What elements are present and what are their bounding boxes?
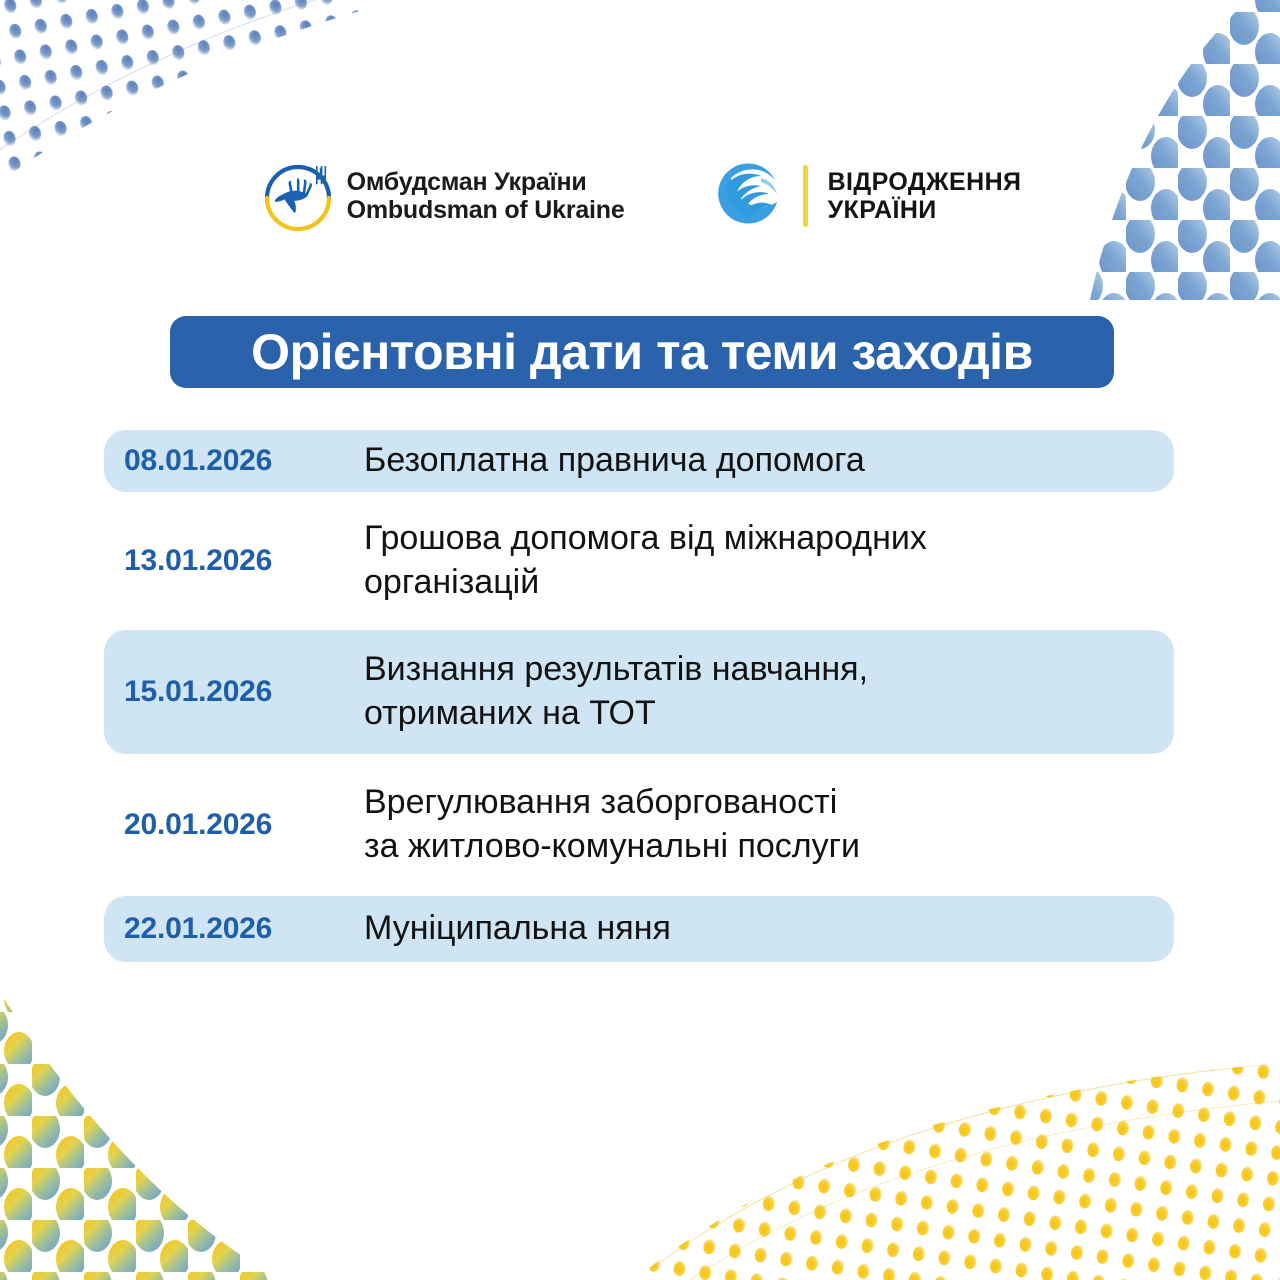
logo-bar: Омбудсман України Ombudsman of Ukraine В… — [0, 158, 1280, 234]
schedule-row-date: 20.01.2026 — [124, 808, 364, 842]
schedule-row: 22.01.2026 Муніципальна няня — [104, 896, 1174, 962]
schedule-row: 13.01.2026 Грошова допомога від міжнарод… — [104, 502, 1174, 620]
decoration-bottom-right-yellow-dot-wave — [650, 1040, 1280, 1280]
schedule-row-topic: Безоплатна правнича допомога — [364, 439, 1174, 483]
ombudsman-logo-text: Омбудсман України Ombudsman of Ukraine — [347, 168, 625, 224]
vidrodzhennia-logo: ВІДРОДЖЕННЯ УКРАЇНИ — [711, 158, 1022, 234]
schedule-row-date: 15.01.2026 — [124, 675, 364, 709]
decoration-top-right-blue-ellipse-grid — [970, 0, 1280, 300]
vidrodzhennia-logo-line-2: УКРАЇНИ — [828, 196, 1022, 224]
vidrodzhennia-logo-line-1: ВІДРОДЖЕННЯ — [828, 168, 1022, 196]
vidrodzhennia-logo-text: ВІДРОДЖЕННЯ УКРАЇНИ — [828, 168, 1022, 224]
schedule-row: 20.01.2026 Врегулювання заборгованості з… — [104, 764, 1174, 886]
schedule-row-topic: Визнання результатів навчання, отриманих… — [364, 648, 1174, 735]
schedule-row-topic: Врегулювання заборгованості за житлово-к… — [364, 781, 1174, 868]
decoration-bottom-left-yellow-blue-ellipse-grid — [0, 960, 300, 1280]
poster-canvas: Омбудсман України Ombudsman of Ukraine В… — [0, 0, 1280, 1280]
page-title: Орієнтовні дати та теми заходів — [251, 327, 1033, 377]
ombudsman-logo-line-en: Ombudsman of Ukraine — [347, 196, 625, 224]
ombudsman-logo: Омбудсман України Ombudsman of Ukraine — [259, 158, 625, 234]
schedule-row-date: 22.01.2026 — [124, 912, 364, 946]
ombudsman-logo-line-ua: Омбудсман України — [347, 168, 625, 196]
schedule-row: 08.01.2026 Безоплатна правнича допомога — [104, 430, 1174, 492]
logo-divider — [803, 165, 808, 227]
page-title-banner: Орієнтовні дати та теми заходів — [170, 316, 1114, 388]
schedule-row-date: 08.01.2026 — [124, 444, 364, 478]
schedule-row-topic: Муніципальна няня — [364, 907, 1174, 951]
schedule-row: 15.01.2026 Визнання результатів навчання… — [104, 630, 1174, 754]
ombudsman-dove-circle-icon — [259, 158, 335, 234]
schedule-row-date: 13.01.2026 — [124, 544, 364, 578]
schedule-row-topic: Грошова допомога від міжнародних організ… — [364, 517, 1174, 604]
phoenix-circle-icon — [711, 158, 787, 234]
schedule-list: 08.01.2026 Безоплатна правнича допомога … — [104, 430, 1174, 972]
